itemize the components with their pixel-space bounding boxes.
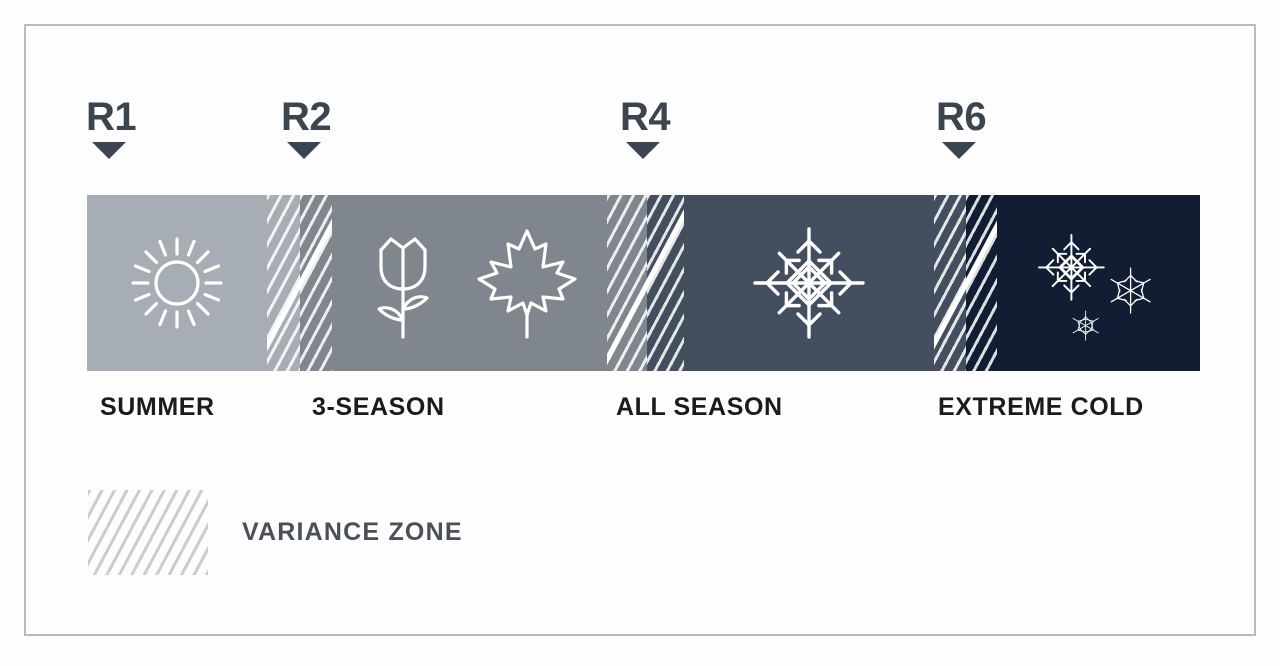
marker-r4: R4	[620, 96, 750, 159]
r-value-scale-infographic: R1 R2 R4 R6	[0, 0, 1280, 666]
down-arrow-icon	[92, 142, 126, 159]
marker-r2-label: R2	[281, 96, 411, 140]
variance-zone-3	[934, 195, 997, 371]
variance-zone-1	[267, 195, 332, 371]
diagonal-hatch-swatch	[88, 490, 208, 575]
down-arrow-icon	[626, 142, 660, 159]
snowflake-large-icon	[1039, 235, 1104, 300]
band-caption-row: SUMMER 3-SEASON ALL SEASON EXTREME COLD	[0, 393, 1280, 433]
marker-r2: R2	[281, 96, 411, 159]
band-summer-icons	[87, 195, 267, 371]
band-extreme-cold	[997, 195, 1200, 371]
down-arrow-icon	[287, 142, 321, 159]
caption-extreme-cold: EXTREME COLD	[938, 393, 1144, 422]
band-summer	[87, 195, 267, 371]
variance-hatch-left	[267, 195, 300, 371]
band-three-season-icons	[332, 195, 607, 371]
marker-r1: R1	[86, 96, 216, 159]
band-three-season	[332, 195, 607, 371]
variance-hatch-left	[934, 195, 966, 371]
marker-r1-label: R1	[86, 96, 216, 140]
caption-summer: SUMMER	[100, 393, 215, 422]
band-all-season	[684, 195, 934, 371]
snowflake-medium-icon	[1108, 268, 1153, 313]
marker-row: R1 R2 R4 R6	[0, 0, 1280, 195]
marker-r6: R6	[936, 96, 1066, 159]
caption-three-season: 3-SEASON	[312, 393, 445, 422]
marker-r4-label: R4	[620, 96, 750, 140]
sun-icon	[125, 231, 229, 335]
variance-hatch-right	[966, 195, 997, 371]
caption-all-season: ALL SEASON	[616, 393, 783, 422]
tulip-icon	[357, 223, 453, 343]
down-arrow-icon	[942, 142, 976, 159]
snowflake-cluster-icon	[997, 195, 1200, 371]
snowflake-small-icon	[1070, 311, 1100, 340]
temperature-band-strip	[87, 195, 1200, 371]
legend-label: VARIANCE ZONE	[242, 518, 463, 547]
variance-hatch-right	[300, 195, 332, 371]
snowflake-icon	[745, 219, 873, 347]
marker-r6-label: R6	[936, 96, 1066, 140]
band-all-season-icons	[684, 195, 934, 371]
legend: VARIANCE ZONE	[88, 490, 463, 575]
variance-zone-2	[607, 195, 684, 371]
band-extreme-cold-icons	[997, 195, 1200, 371]
maple-leaf-icon	[471, 223, 583, 343]
